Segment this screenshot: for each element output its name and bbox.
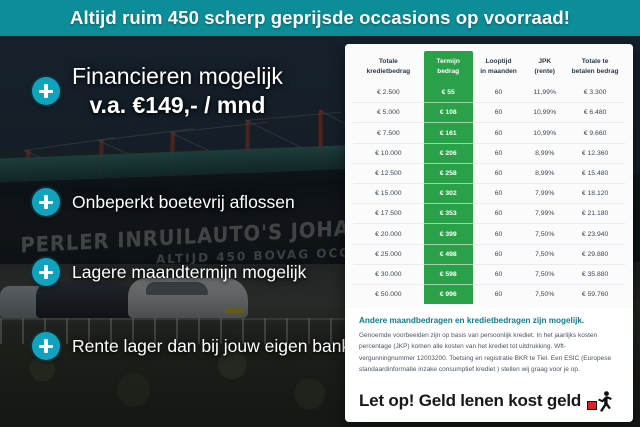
legal-warning: Let op! Geld lenen kost geld bbox=[359, 390, 619, 412]
table-cell: € 29.880 bbox=[565, 244, 625, 264]
table-cell: € 161 bbox=[424, 123, 473, 143]
table-cell: € 3.300 bbox=[565, 83, 625, 103]
table-cell: 11,99% bbox=[524, 83, 565, 103]
table-cell: 60 bbox=[473, 184, 525, 204]
table-cell: 60 bbox=[473, 264, 525, 284]
table-cell: € 498 bbox=[424, 244, 473, 264]
banner-headline: Altijd ruim 450 scherp geprijsde occasio… bbox=[70, 7, 570, 29]
table-cell: 60 bbox=[473, 204, 525, 224]
money-walking-man-icon bbox=[587, 390, 613, 412]
table-cell: 10,99% bbox=[524, 123, 565, 143]
ad-banner: PERLER INRUILAUTO'S JOHAN MEURE ALTIJD 4… bbox=[0, 0, 640, 427]
loan-table-card: Totalekredietbedrag Termijnbedrag Loopti… bbox=[345, 44, 633, 422]
loan-table-wrapper: Totalekredietbedrag Termijnbedrag Loopti… bbox=[345, 44, 633, 308]
table-cell: 7,50% bbox=[524, 264, 565, 284]
benefit-item-lower-rate: Rente lager dan bij jouw eigen bank bbox=[32, 332, 350, 360]
loan-table: Totalekredietbedrag Termijnbedrag Loopti… bbox=[353, 51, 625, 304]
plus-icon bbox=[32, 258, 60, 286]
table-cell: 7,50% bbox=[524, 224, 565, 244]
table-cell: 60 bbox=[473, 83, 525, 103]
table-cell: € 10.000 bbox=[353, 143, 424, 163]
col-header-installment: Termijnbedrag bbox=[424, 51, 473, 83]
table-cell: € 15.480 bbox=[565, 163, 625, 183]
table-cell: € 18.120 bbox=[565, 184, 625, 204]
disclaimer-section: Andere maandbedragen en kredietbedragen … bbox=[345, 308, 633, 422]
table-cell: € 2.500 bbox=[353, 83, 424, 103]
col-header-total-credit: Totalekredietbedrag bbox=[353, 51, 424, 83]
table-cell: € 50.000 bbox=[353, 284, 424, 304]
table-cell: € 20.000 bbox=[353, 224, 424, 244]
table-row: € 7.500€ 1616010,99%€ 9.660 bbox=[353, 123, 625, 143]
table-cell: € 108 bbox=[424, 103, 473, 123]
table-row: € 5.000€ 1086010,99%€ 6.480 bbox=[353, 103, 625, 123]
table-cell: € 15.000 bbox=[353, 184, 424, 204]
table-cell: € 206 bbox=[424, 143, 473, 163]
plus-icon bbox=[32, 188, 60, 216]
col-header-apr: JPK(rente) bbox=[524, 51, 565, 83]
table-row: € 2.500€ 556011,99%€ 3.300 bbox=[353, 83, 625, 103]
table-cell: 60 bbox=[473, 123, 525, 143]
table-cell: € 12.500 bbox=[353, 163, 424, 183]
table-cell: 7,99% bbox=[524, 184, 565, 204]
table-cell: € 399 bbox=[424, 224, 473, 244]
table-cell: € 25.000 bbox=[353, 244, 424, 264]
benefit-text-lower-installment: Lagere maandtermijn mogelijk bbox=[72, 261, 306, 283]
table-cell: € 23.940 bbox=[565, 224, 625, 244]
table-cell: 7,50% bbox=[524, 244, 565, 264]
loan-table-header-row: Totalekredietbedrag Termijnbedrag Loopti… bbox=[353, 51, 625, 83]
benefit-line-1: Financieren mogelijk bbox=[72, 63, 283, 89]
disclaimer-body: Genoemde voorbeelden zijn op basis van p… bbox=[359, 330, 619, 375]
table-row: € 50.000€ 996607,50%€ 59.760 bbox=[353, 284, 625, 304]
table-cell: € 59.760 bbox=[565, 284, 625, 304]
table-cell: 60 bbox=[473, 284, 525, 304]
benefit-item-penalty-free: Onbeperkt boetevrij aflossen bbox=[32, 188, 295, 216]
top-banner: Altijd ruim 450 scherp geprijsde occasio… bbox=[0, 0, 640, 36]
table-cell: 8,99% bbox=[524, 163, 565, 183]
disclaimer-title: Andere maandbedragen en kredietbedragen … bbox=[359, 316, 619, 325]
benefit-text-penalty-free: Onbeperkt boetevrij aflossen bbox=[72, 191, 295, 213]
table-cell: € 12.360 bbox=[565, 143, 625, 163]
table-row: € 30.000€ 598607,50%€ 35.880 bbox=[353, 264, 625, 284]
table-cell: € 7.500 bbox=[353, 123, 424, 143]
table-cell: 60 bbox=[473, 224, 525, 244]
table-cell: € 302 bbox=[424, 184, 473, 204]
table-cell: € 9.660 bbox=[565, 123, 625, 143]
table-cell: € 353 bbox=[424, 204, 473, 224]
benefits-list: Financieren mogelijk v.a. €149,- / mnd O… bbox=[0, 36, 345, 427]
plus-icon bbox=[32, 332, 60, 360]
table-cell: 8,99% bbox=[524, 143, 565, 163]
table-cell: 60 bbox=[473, 103, 525, 123]
table-cell: € 21.180 bbox=[565, 204, 625, 224]
table-row: € 12.500€ 258608,99%€ 15.480 bbox=[353, 163, 625, 183]
loan-table-body: € 2.500€ 556011,99%€ 3.300€ 5.000€ 10860… bbox=[353, 83, 625, 304]
table-row: € 17.500€ 353607,99%€ 21.180 bbox=[353, 204, 625, 224]
table-cell: 60 bbox=[473, 143, 525, 163]
table-cell: € 55 bbox=[424, 83, 473, 103]
table-cell: 60 bbox=[473, 244, 525, 264]
table-cell: € 5.000 bbox=[353, 103, 424, 123]
benefit-line-2: v.a. €149,- / mnd bbox=[72, 91, 283, 120]
table-row: € 15.000€ 302607,99%€ 18.120 bbox=[353, 184, 625, 204]
table-cell: € 35.880 bbox=[565, 264, 625, 284]
loan-table-head: Totalekredietbedrag Termijnbedrag Loopti… bbox=[353, 51, 625, 83]
table-cell: € 996 bbox=[424, 284, 473, 304]
plus-icon bbox=[32, 77, 60, 105]
table-row: € 20.000€ 399607,50%€ 23.940 bbox=[353, 224, 625, 244]
table-cell: € 258 bbox=[424, 163, 473, 183]
table-cell: 7,99% bbox=[524, 204, 565, 224]
table-cell: 7,50% bbox=[524, 284, 565, 304]
table-cell: 10,99% bbox=[524, 103, 565, 123]
table-cell: € 598 bbox=[424, 264, 473, 284]
table-cell: € 17.500 bbox=[353, 204, 424, 224]
table-cell: € 6.480 bbox=[565, 103, 625, 123]
table-row: € 10.000€ 206608,99%€ 12.360 bbox=[353, 143, 625, 163]
benefit-item-lower-installment: Lagere maandtermijn mogelijk bbox=[32, 258, 306, 286]
table-row: € 25.000€ 498607,50%€ 29.880 bbox=[353, 244, 625, 264]
table-cell: 60 bbox=[473, 163, 525, 183]
benefit-text-financing: Financieren mogelijk v.a. €149,- / mnd bbox=[72, 62, 283, 121]
col-header-total-payable: Totale tebetalen bedrag bbox=[565, 51, 625, 83]
benefit-item-financing: Financieren mogelijk v.a. €149,- / mnd bbox=[32, 62, 283, 121]
col-header-duration: Looptijdin maanden bbox=[473, 51, 525, 83]
legal-warning-text: Let op! Geld lenen kost geld bbox=[359, 391, 581, 411]
table-cell: € 30.000 bbox=[353, 264, 424, 284]
benefit-text-lower-rate: Rente lager dan bij jouw eigen bank bbox=[72, 335, 350, 357]
